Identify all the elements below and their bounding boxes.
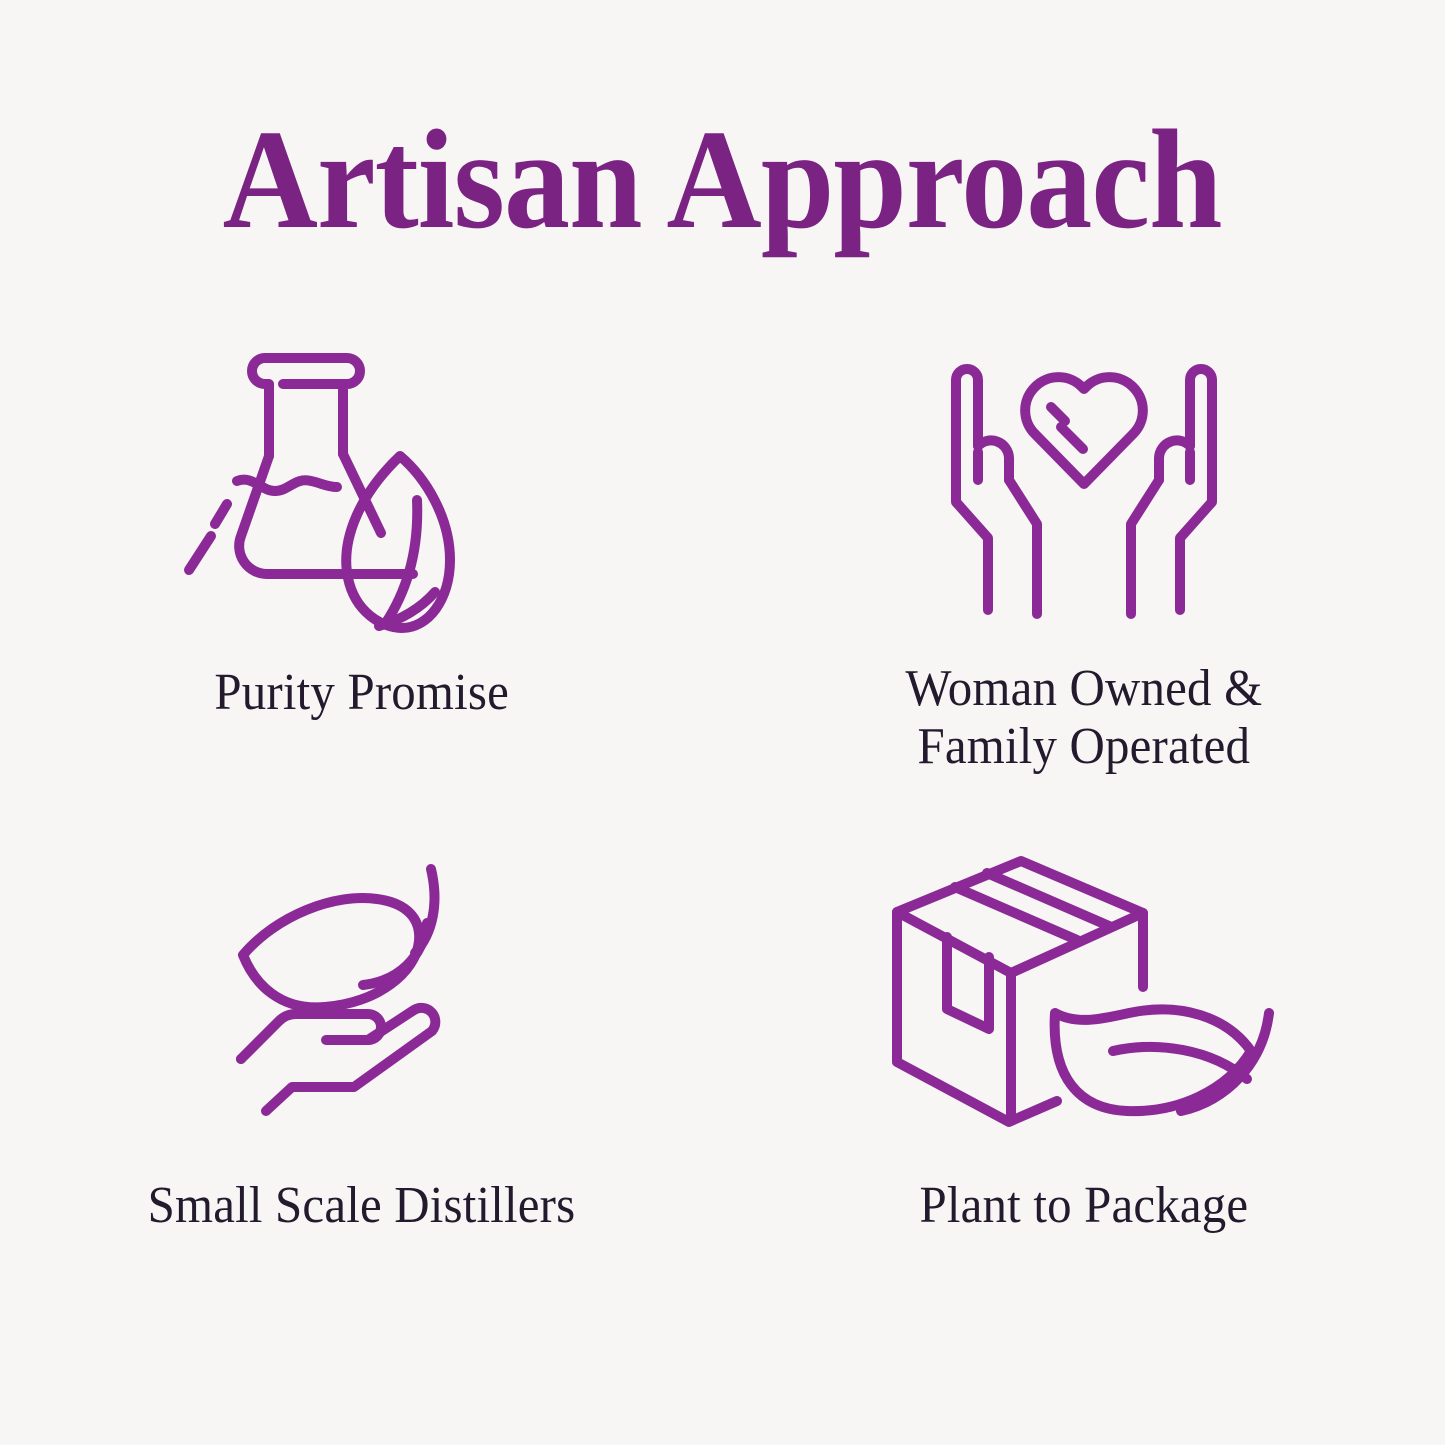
page-title: Artisan Approach [223, 108, 1222, 250]
feature-label-line-1: Small Scale Distillers [147, 1177, 575, 1235]
feature-label-line-1: Plant to Package [919, 1177, 1248, 1235]
box-with-leaf-icon [889, 840, 1279, 1135]
feature-label: Small Scale Distillers [138, 1177, 585, 1235]
hands-holding-heart-icon [934, 330, 1234, 630]
feature-label-line-1: Woman Owned & [905, 660, 1262, 718]
page-title-container: Artisan Approach [0, 108, 1445, 250]
leaf-in-open-hand-icon [235, 840, 487, 1135]
feature-label: Plant to Package [910, 1177, 1258, 1235]
feature-item-woman-owned: Woman Owned & Family Operated [723, 330, 1445, 840]
feature-label-line-1: Purity Promise [214, 664, 509, 722]
feature-item-purity-promise: Purity Promise [0, 330, 723, 840]
feature-item-plant-to-package: Plant to Package [723, 840, 1445, 1350]
feature-label: Purity Promise [205, 664, 518, 722]
feature-item-small-scale-distillers: Small Scale Distillers [0, 840, 723, 1350]
feature-grid: Purity Promise [0, 330, 1445, 1350]
artisan-approach-graphic: Artisan Approach [0, 0, 1445, 1445]
flask-leaf-icon [231, 330, 491, 630]
feature-label-line-2: Family Operated [905, 718, 1262, 776]
feature-label: Woman Owned & Family Operated [896, 660, 1272, 776]
